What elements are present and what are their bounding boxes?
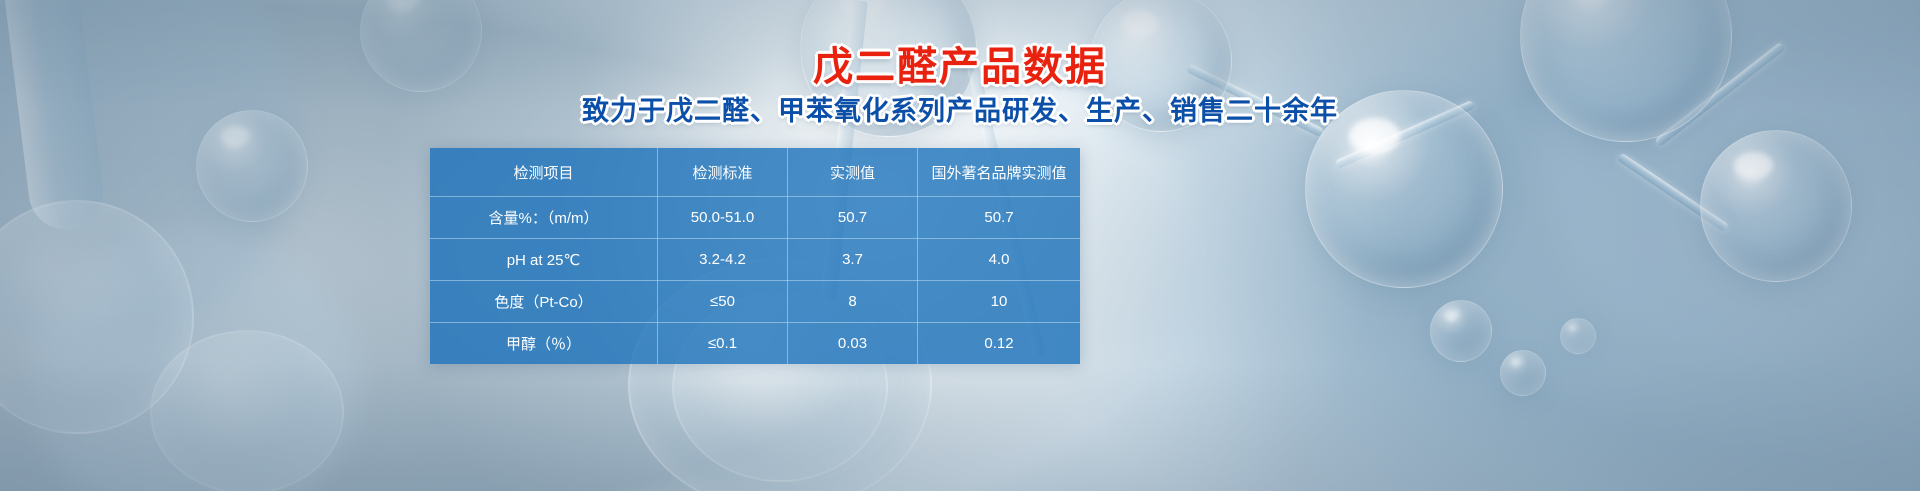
table-row: pH at 25℃ 3.2-4.2 3.7 4.0 — [430, 239, 1080, 281]
cell-item: 含量%：（m/m） — [430, 197, 658, 239]
cell-standard: ≤0.1 — [658, 323, 788, 365]
page-subtitle: 致力于戊二醛、甲苯氧化系列产品研发、生产、销售二十余年 — [0, 97, 1920, 127]
cell-measured: 3.7 — [788, 239, 918, 281]
cell-measured: 8 — [788, 281, 918, 323]
banner-stage: 戊二醛产品数据 致力于戊二醛、甲苯氧化系列产品研发、生产、销售二十余年 检测项目… — [0, 0, 1920, 491]
cell-measured: 0.03 — [788, 323, 918, 365]
cell-item: pH at 25℃ — [430, 239, 658, 281]
table-row: 色度（Pt-Co） ≤50 8 10 — [430, 281, 1080, 323]
cell-standard: 3.2-4.2 — [658, 239, 788, 281]
spec-table-container: 检测项目 检测标准 实测值 国外著名品牌实测值 含量%：（m/m） 50.0-5… — [430, 148, 1080, 364]
cell-foreign: 10 — [918, 281, 1081, 323]
page-title: 戊二醛产品数据 — [0, 46, 1920, 88]
table-row: 甲醇（％） ≤0.1 0.03 0.12 — [430, 323, 1080, 365]
cell-foreign: 4.0 — [918, 239, 1081, 281]
column-header-foreign: 国外著名品牌实测值 — [918, 148, 1081, 197]
table-header-row: 检测项目 检测标准 实测值 国外著名品牌实测值 — [430, 148, 1080, 197]
cell-standard: 50.0-51.0 — [658, 197, 788, 239]
cell-item: 色度（Pt-Co） — [430, 281, 658, 323]
cell-standard: ≤50 — [658, 281, 788, 323]
spec-table: 检测项目 检测标准 实测值 国外著名品牌实测值 含量%：（m/m） 50.0-5… — [430, 148, 1080, 364]
column-header-standard: 检测标准 — [658, 148, 788, 197]
column-header-measured: 实测值 — [788, 148, 918, 197]
cell-foreign: 50.7 — [918, 197, 1081, 239]
banner-heading: 戊二醛产品数据 致力于戊二醛、甲苯氧化系列产品研发、生产、销售二十余年 — [0, 46, 1920, 127]
cell-measured: 50.7 — [788, 197, 918, 239]
table-row: 含量%：（m/m） 50.0-51.0 50.7 50.7 — [430, 197, 1080, 239]
cell-foreign: 0.12 — [918, 323, 1081, 365]
column-header-item: 检测项目 — [430, 148, 658, 197]
cell-item: 甲醇（％） — [430, 323, 658, 365]
